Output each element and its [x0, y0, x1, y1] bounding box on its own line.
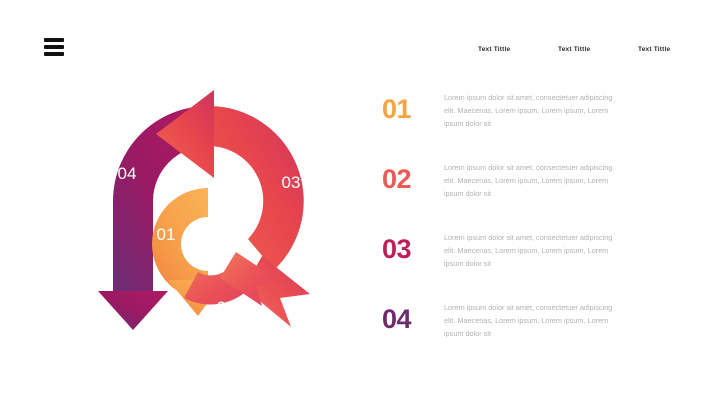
hamburger-menu-icon[interactable] — [44, 38, 64, 56]
diagram-label-03: 03 — [282, 173, 301, 192]
diagram-label-01: 01 — [157, 225, 176, 244]
hamburger-bar-3 — [44, 52, 64, 56]
list-item-number: 04 — [382, 298, 444, 333]
circular-cycle-diagram: 03 04 01 — [48, 84, 368, 334]
list-item[interactable]: 03 Lorem ipsum dolor sit amet, consectet… — [382, 228, 682, 298]
list-item-text: Lorem ipsum dolor sit amet, consectetuer… — [444, 228, 622, 270]
header-title-3: Text Tittle — [638, 46, 670, 53]
list-item-text: Lorem ipsum dolor sit amet, consectetuer… — [444, 298, 622, 340]
numbered-list: 01 Lorem ipsum dolor sit amet, consectet… — [382, 88, 682, 368]
list-item[interactable]: 02 Lorem ipsum dolor sit amet, consectet… — [382, 158, 682, 228]
header-title-2: Text Tittle — [558, 46, 590, 53]
list-item-text: Lorem ipsum dolor sit amet, consectetuer… — [444, 88, 622, 130]
list-item-text: Lorem ipsum dolor sit amet, consectetuer… — [444, 158, 622, 200]
hamburger-bar-2 — [44, 45, 64, 49]
list-item-number: 03 — [382, 228, 444, 263]
list-item[interactable]: 01 Lorem ipsum dolor sit amet, consectet… — [382, 88, 682, 158]
list-item[interactable]: 04 Lorem ipsum dolor sit amet, consectet… — [382, 298, 682, 368]
header-title-1: Text Tittle — [478, 46, 510, 53]
list-item-number: 02 — [382, 158, 444, 193]
diagram-label-04: 04 — [118, 164, 137, 183]
diagram-center-hole — [181, 217, 235, 271]
list-item-number: 01 — [382, 88, 444, 123]
diagram-label-02: 02 — [217, 298, 236, 317]
hamburger-bar-1 — [44, 38, 64, 42]
header-titles: Text Tittle Text Tittle Text Tittle — [470, 46, 700, 62]
